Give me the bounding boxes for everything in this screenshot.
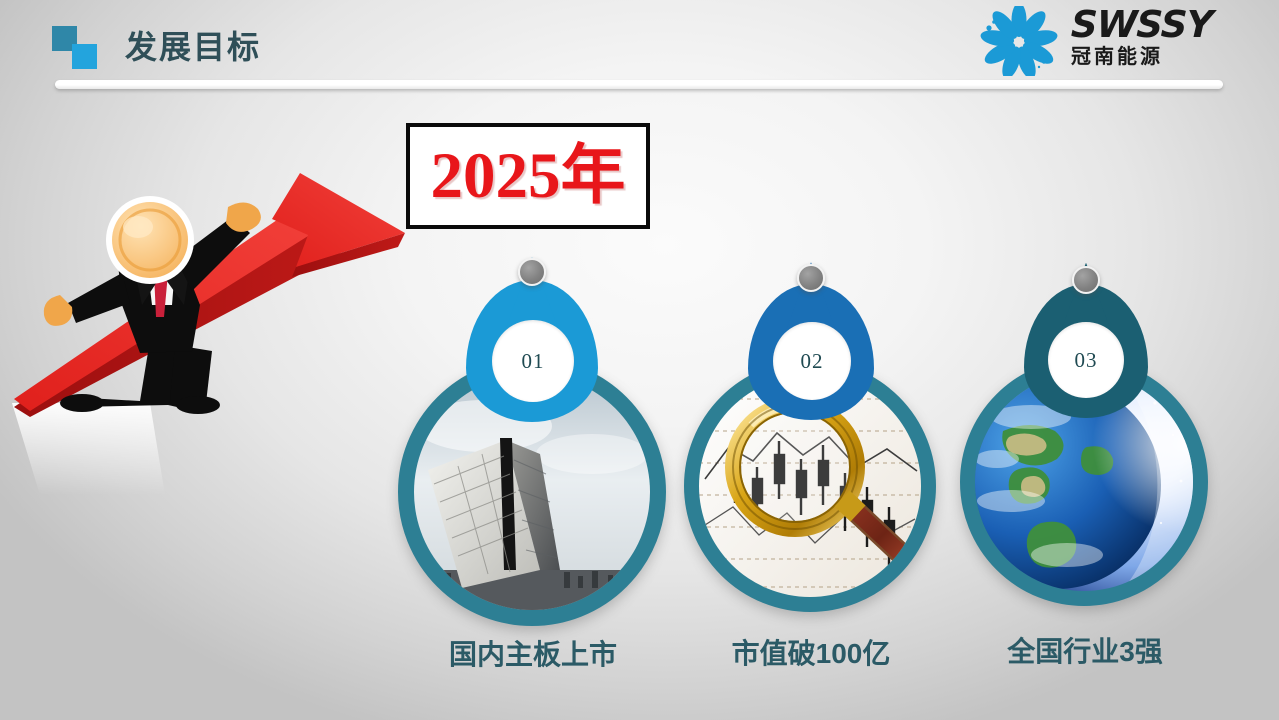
goal-02-pin-icon	[797, 264, 825, 292]
goal-02-number-badge: 02	[773, 322, 851, 400]
header-square-light-icon	[72, 44, 97, 69]
year-target-text: 2025年	[430, 144, 625, 209]
logo-text-block: SWSSY 冠南能源	[1071, 6, 1267, 70]
goal-item-01[interactable]: 01 国内主板上市	[398, 258, 668, 618]
year-target-box: 2025年	[406, 123, 650, 229]
page-title: 发展目标	[125, 22, 261, 68]
slide-canvas: 发展目标	[0, 0, 1279, 720]
businessman-on-rising-arrow-illustration	[0, 155, 420, 525]
goal-01-number: 01	[522, 349, 545, 374]
goal-01-pin-icon	[518, 258, 546, 286]
goal-item-02[interactable]: 02 市值破100亿	[684, 264, 938, 614]
company-logo: SWSSY 冠南能源	[971, 4, 1271, 76]
goal-02-number: 02	[801, 349, 824, 374]
logo-brand-name: SWSSY	[1070, 6, 1267, 44]
logo-subtitle: 冠南能源	[1071, 44, 1267, 70]
goal-03-number: 03	[1075, 348, 1098, 373]
slide-header: 发展目标	[0, 0, 1279, 95]
header-divider	[55, 80, 1223, 89]
goal-item-03[interactable]: 03 全国行业3强	[960, 266, 1208, 612]
swssy-flower-mark-icon	[971, 6, 1067, 76]
goal-01-number-badge: 01	[492, 320, 574, 402]
goal-03-number-badge: 03	[1048, 322, 1124, 398]
goal-03-caption: 全国行业3强	[924, 630, 1246, 670]
goal-03-pin-icon	[1072, 266, 1100, 294]
